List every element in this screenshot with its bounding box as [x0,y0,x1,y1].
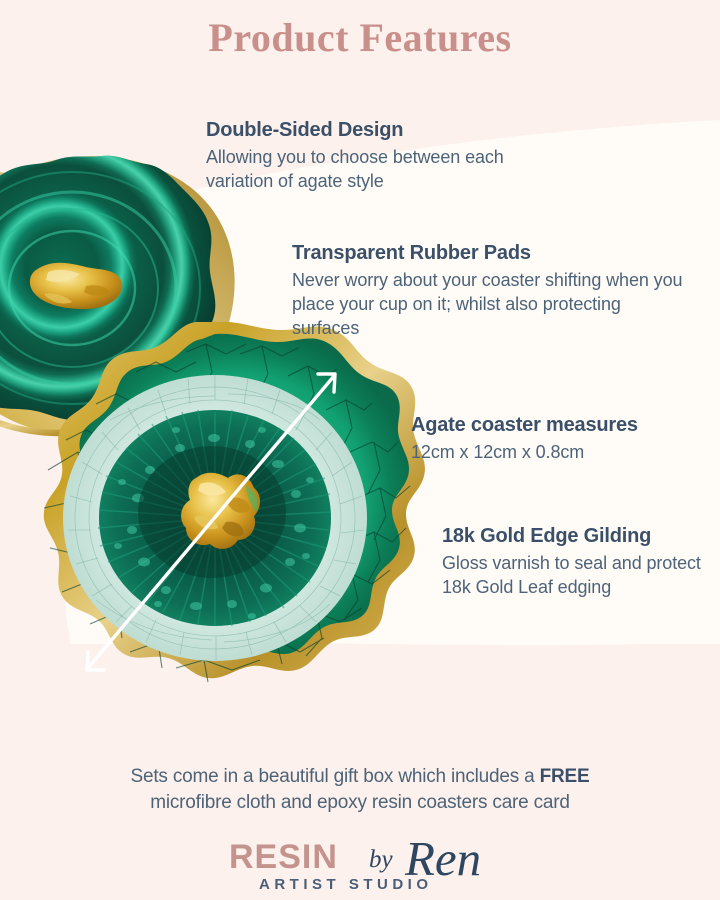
back-coaster-gold-leaf [30,263,122,309]
feature-heading: Double-Sided Design [206,118,546,143]
feature-transparent-rubber-pads: Transparent Rubber Pads Never worry abou… [292,241,692,340]
feature-heading: Transparent Rubber Pads [292,241,692,266]
feature-double-sided-design: Double-Sided Design Allowing you to choo… [206,118,546,193]
logo-brand-text: RESIN [229,838,338,877]
logo-tagline: ARTIST STUDIO [259,876,433,893]
feature-body: 12cm x 12cm x 0.8cm [411,440,711,464]
brand-logo: RESIN by Ren ARTIST STUDIO [0,836,720,898]
feature-heading: 18k Gold Edge Gilding [442,524,717,549]
product-features-infographic: Product Features Double-Sided Design All… [0,0,720,900]
gift-box-note-text-2: microfibre cloth and epoxy resin coaster… [150,792,570,813]
feature-agate-coaster-measures: Agate coaster measures 12cm x 12cm x 0.8… [411,413,711,464]
measurement-arrow [87,374,335,670]
feature-18k-gold-edge-gilding: 18k Gold Edge Gilding Gloss varnish to s… [442,524,717,599]
feature-heading: Agate coaster measures [411,413,711,438]
front-coaster-gold-leaf [181,473,260,549]
back-coaster [0,156,235,437]
gift-box-note: Sets come in a beautiful gift box which … [40,764,680,816]
front-coaster [44,322,425,682]
logo-by-text: by [369,846,393,874]
feature-body: Gloss varnish to seal and protect 18k Go… [442,551,717,599]
feature-body: Allowing you to choose between each vari… [206,145,546,193]
gift-box-note-emphasis: FREE [540,766,590,787]
gift-box-note-text: Sets come in a beautiful gift box which … [131,766,540,787]
feature-body: Never worry about your coaster shifting … [292,268,692,340]
page-title: Product Features [0,14,720,61]
